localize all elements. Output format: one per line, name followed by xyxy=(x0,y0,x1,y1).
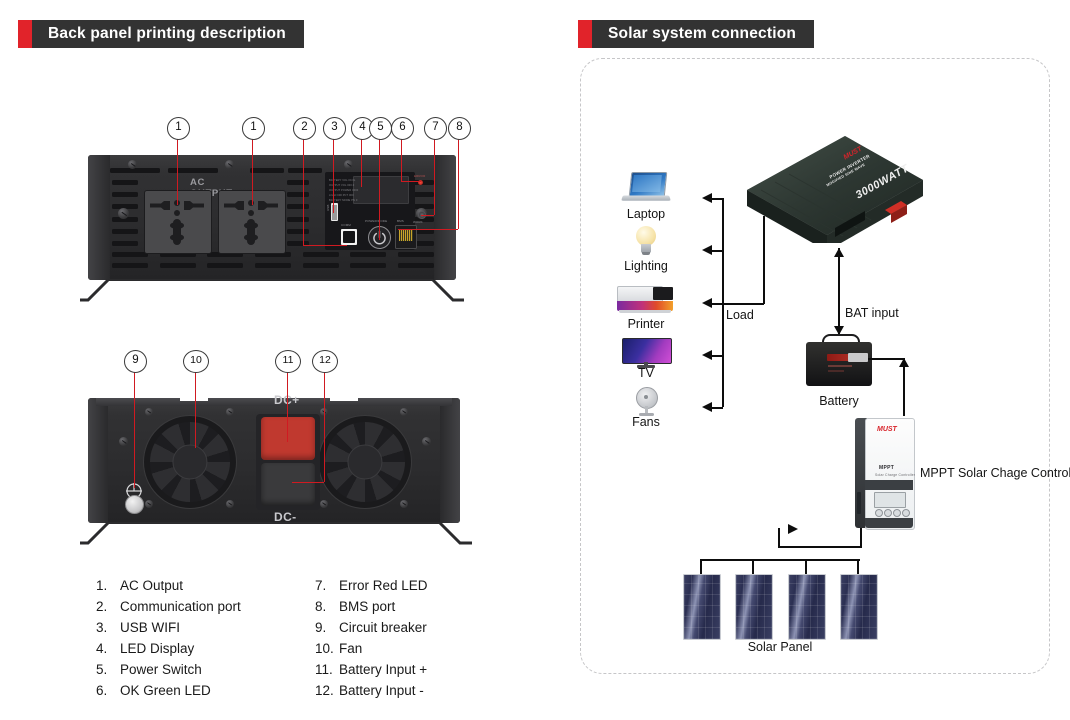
legend-item: 9.Circuit breaker xyxy=(315,620,428,641)
chassis-right-bevel xyxy=(434,155,456,280)
leader-line-2v xyxy=(303,137,304,245)
callout-10[interactable]: 10 xyxy=(183,350,209,373)
legend-item: 6.OK Green LED xyxy=(96,683,241,704)
panel-drop-1 xyxy=(700,559,702,575)
fan-screw-2 xyxy=(226,408,234,416)
legend-label: Power Switch xyxy=(120,662,202,677)
vent-row-top-right xyxy=(250,168,322,173)
tv-label: TV xyxy=(600,366,692,380)
fans-label: Fans xyxy=(600,415,692,429)
fan-screw-3 xyxy=(145,500,153,508)
solar-panel-label: Solar Panel xyxy=(720,640,840,654)
fan-screw-7 xyxy=(320,500,328,508)
bottom-panel-feet xyxy=(78,521,476,547)
mppt-controller-device: MUST MPPT Solar Charge Controller xyxy=(855,418,913,528)
legend-label: Error Red LED xyxy=(339,578,428,593)
fan-left xyxy=(143,415,237,509)
legend-item: 8.BMS port xyxy=(315,599,428,620)
laptop-icon xyxy=(622,172,670,206)
leader-line-4 xyxy=(361,137,362,187)
legend-item: 1.AC Output xyxy=(96,578,241,599)
legend-column-right: 7.Error Red LED 8.BMS port 9.Circuit bre… xyxy=(315,578,428,704)
callout-5[interactable]: 5 xyxy=(369,117,392,140)
callout-2[interactable]: 2 xyxy=(293,117,316,140)
arrowhead-bat-up-icon xyxy=(834,248,844,257)
chassis-screw-left xyxy=(119,437,128,446)
bat-input-line xyxy=(838,248,840,334)
load-branch-tv xyxy=(711,355,723,357)
legend-item: 5.Power Switch xyxy=(96,662,241,683)
section-title-text: Back panel printing description xyxy=(48,25,286,43)
legend-label: BMS port xyxy=(339,599,395,614)
legend-item: 12.Battery Input - xyxy=(315,683,428,704)
mppt-controller-label: MPPT Solar Chage Controller xyxy=(920,465,1040,481)
load-bus-label: Load xyxy=(726,308,766,322)
arrowhead-printer-icon xyxy=(702,298,712,308)
leader-line-5 xyxy=(379,137,380,240)
legend-label: Communication port xyxy=(120,599,241,614)
solar-panel-busbar xyxy=(700,559,860,561)
printer-label: Printer xyxy=(600,317,692,331)
leader-line-1b xyxy=(252,137,253,205)
power-switch-label: POWER/MODE xyxy=(365,219,387,223)
callout-1b[interactable]: 1 xyxy=(242,117,265,140)
vent-row-bottom-2 xyxy=(112,263,434,268)
chassis-left-bevel xyxy=(88,398,108,523)
legend-item: 10.Fan xyxy=(315,641,428,662)
chassis-left-bevel xyxy=(88,155,110,280)
lighting-label: Lighting xyxy=(600,259,692,273)
legend-item: 11.Battery Input + xyxy=(315,662,428,683)
legend-number: 12. xyxy=(315,683,339,698)
legend-label: USB WIFI xyxy=(120,620,180,635)
leader-line-12v xyxy=(324,370,325,482)
leader-line-11 xyxy=(287,370,288,442)
legend-label: OK Green LED xyxy=(120,683,211,698)
section-header-back-panel: Back panel printing description xyxy=(18,20,304,48)
communication-port-label: COMM xyxy=(341,223,351,227)
section-accent-tab xyxy=(578,20,592,48)
section-title-bar: Back panel printing description xyxy=(32,20,304,48)
battery-device xyxy=(800,334,878,392)
fan-screw-6 xyxy=(400,408,408,416)
legend-number: 11. xyxy=(315,662,339,677)
legend-number: 9. xyxy=(315,620,339,635)
section-header-solar: Solar system connection xyxy=(578,20,814,48)
screw-left xyxy=(118,208,129,219)
chassis-notch-right xyxy=(330,396,358,401)
callout-6[interactable]: 6 xyxy=(391,117,414,140)
leader-line-7h xyxy=(421,215,434,216)
legend-label: AC Output xyxy=(120,578,183,593)
arrowhead-laptop-icon xyxy=(702,193,712,203)
panel-drop-3 xyxy=(805,559,807,575)
circuit-breaker[interactable] xyxy=(125,495,144,514)
tv-icon xyxy=(622,338,670,368)
section-accent-tab xyxy=(18,20,32,48)
arrowhead-fans-icon xyxy=(702,402,712,412)
legend-number: 3. xyxy=(96,620,120,635)
leader-line-6h xyxy=(401,181,421,182)
fan-screw-8 xyxy=(400,500,408,508)
fan-screw-1 xyxy=(145,408,153,416)
panel-bus-riser xyxy=(778,528,780,547)
callout-9[interactable]: 9 xyxy=(124,350,147,373)
bat-input-label: BAT input xyxy=(845,306,915,320)
vent-row-top-left xyxy=(110,168,218,173)
legend-label: Battery Input + xyxy=(339,662,427,677)
leader-line-9 xyxy=(134,370,135,488)
legend-number: 2. xyxy=(96,599,120,614)
mppt-mark: MPPT xyxy=(879,465,894,471)
legend-number: 8. xyxy=(315,599,339,614)
solar-panel-3 xyxy=(788,574,826,640)
load-branch-lighting xyxy=(711,250,723,252)
printer-icon xyxy=(617,286,675,316)
callout-1a[interactable]: 1 xyxy=(167,117,190,140)
controller-to-panels-v xyxy=(860,528,862,547)
leader-line-7v xyxy=(434,137,435,215)
rear-panel-feet xyxy=(78,278,468,304)
fans-icon xyxy=(631,387,661,417)
arrowhead-lighting-icon xyxy=(702,245,712,255)
laptop-label: Laptop xyxy=(600,207,692,221)
chassis-top-chamfer xyxy=(95,155,449,165)
bms-port-label: BMS xyxy=(397,219,404,223)
screw-top-left xyxy=(128,160,137,169)
leader-line-3 xyxy=(333,137,334,213)
leader-line-8v xyxy=(458,137,459,229)
chassis-right-bevel xyxy=(440,398,460,523)
panel-drop-2 xyxy=(752,559,754,575)
solar-panel-4 xyxy=(840,574,878,640)
section-title-text: Solar system connection xyxy=(608,25,796,43)
ok-led-label: WORK xyxy=(413,220,423,224)
legend-item: 4.LED Display xyxy=(96,641,241,662)
battery-input-negative[interactable] xyxy=(261,463,315,506)
fan-right xyxy=(318,415,412,509)
legend-item: 3.USB WIFI xyxy=(96,620,241,641)
solar-panel-2 xyxy=(735,574,773,640)
leader-line-8h xyxy=(398,229,458,230)
panel-drop-4 xyxy=(857,559,859,575)
callout-7[interactable]: 7 xyxy=(424,117,447,140)
legend-column-left: 1.AC Output 2.Communication port 3.USB W… xyxy=(96,578,241,704)
arrowhead-battery-up-icon xyxy=(899,358,909,367)
screw-top-mid xyxy=(225,160,234,169)
legend-number: 10. xyxy=(315,641,339,656)
section-title-bar: Solar system connection xyxy=(592,20,814,48)
callout-8[interactable]: 8 xyxy=(448,117,471,140)
leader-line-1a xyxy=(177,137,178,205)
fan-screw-4 xyxy=(226,500,234,508)
leader-line-12h xyxy=(292,482,324,483)
callout-12[interactable]: 12 xyxy=(312,350,338,373)
inverter-to-load-horizontal xyxy=(722,303,764,305)
callout-3[interactable]: 3 xyxy=(323,117,346,140)
usb-port-label: USB xyxy=(326,205,330,211)
mppt-sub-label: Solar Charge Controller xyxy=(875,473,915,477)
callout-11[interactable]: 11 xyxy=(275,350,301,373)
solar-panel-1 xyxy=(683,574,721,640)
legend-number: 7. xyxy=(315,578,339,593)
legend-number: 1. xyxy=(96,578,120,593)
legend-number: 5. xyxy=(96,662,120,677)
inverter-device: MUST POWER INVERTER MODIFIED SINE WAVE 3… xyxy=(735,128,925,243)
chassis-notch-left xyxy=(180,396,208,401)
legend-label: Battery Input - xyxy=(339,683,424,698)
leader-line-6v xyxy=(401,137,402,181)
legend-label: Fan xyxy=(339,641,362,656)
arrowhead-tv-icon xyxy=(702,350,712,360)
mppt-brand: MUST xyxy=(877,426,897,433)
leader-line-10 xyxy=(195,370,196,448)
battery-label: Battery xyxy=(800,394,878,408)
chassis-screw-right xyxy=(422,437,431,446)
legend-number: 4. xyxy=(96,641,120,656)
lighting-icon xyxy=(634,226,658,258)
legend-label: LED Display xyxy=(120,641,194,656)
communication-port[interactable] xyxy=(341,229,357,245)
legend-item: 2.Communication port xyxy=(96,599,241,620)
controller-to-panels-h xyxy=(778,546,862,548)
legend-number: 6. xyxy=(96,683,120,698)
vent-stack-mid xyxy=(287,180,309,246)
arrowhead-panels-right-icon xyxy=(788,524,798,534)
leader-line-2h xyxy=(303,245,347,246)
screw-top-right xyxy=(344,160,353,169)
legend-label: Circuit breaker xyxy=(339,620,427,635)
legend-item: 7.Error Red LED xyxy=(315,578,428,599)
error-led-label: ERROR xyxy=(414,174,425,178)
load-branch-fans xyxy=(711,407,723,409)
load-branch-laptop xyxy=(711,198,723,200)
